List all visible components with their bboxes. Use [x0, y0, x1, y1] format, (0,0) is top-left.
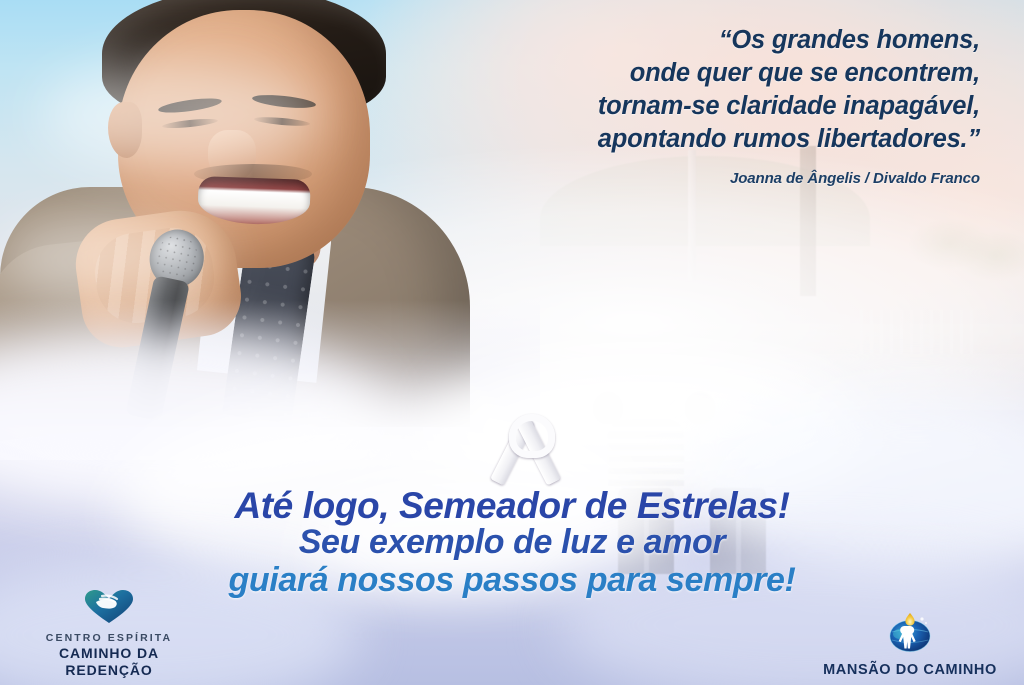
headline-line-1: Até logo, Semeador de Estrelas!	[0, 487, 1024, 524]
quote-line-2: onde quer que se encontrem,	[420, 57, 980, 90]
logo-left-line-1: CENTRO ESPÍRITA	[14, 632, 204, 645]
logo-left-line-2: CAMINHO DA REDENÇÃO	[14, 645, 204, 679]
ribbon-loop	[509, 414, 555, 458]
memorial-poster: “Os grandes homens, onde quer que se enc…	[0, 0, 1024, 685]
heart-with-hands-icon	[14, 590, 204, 629]
quote-text: “Os grandes homens, onde quer que se enc…	[420, 24, 980, 156]
headline-message: Até logo, Semeador de Estrelas! Seu exem…	[0, 487, 1024, 600]
quote-line-3: tornam-se claridade inapagável,	[420, 90, 980, 123]
logo-mansao-do-caminho[interactable]: MANSÃO DO CAMINHO	[810, 612, 1010, 679]
quote-line-1: “Os grandes homens,	[420, 24, 980, 57]
quote-attribution: Joanna de Ângelis / Divaldo Franco	[420, 170, 980, 187]
quote-line-4: apontando rumos libertadores.”	[420, 123, 980, 156]
globe-with-figure-and-flame-icon	[810, 612, 1010, 659]
white-ribbon-icon	[487, 413, 561, 487]
headline-line-2: Seu exemplo de luz e amor	[0, 524, 1024, 561]
portrait-cloud-fade	[0, 300, 540, 460]
logo-centro-espirita[interactable]: CENTRO ESPÍRITA CAMINHO DA REDENÇÃO	[14, 590, 204, 679]
ear	[108, 102, 142, 158]
logo-right-line-2: MANSÃO DO CAMINHO	[810, 662, 1010, 679]
